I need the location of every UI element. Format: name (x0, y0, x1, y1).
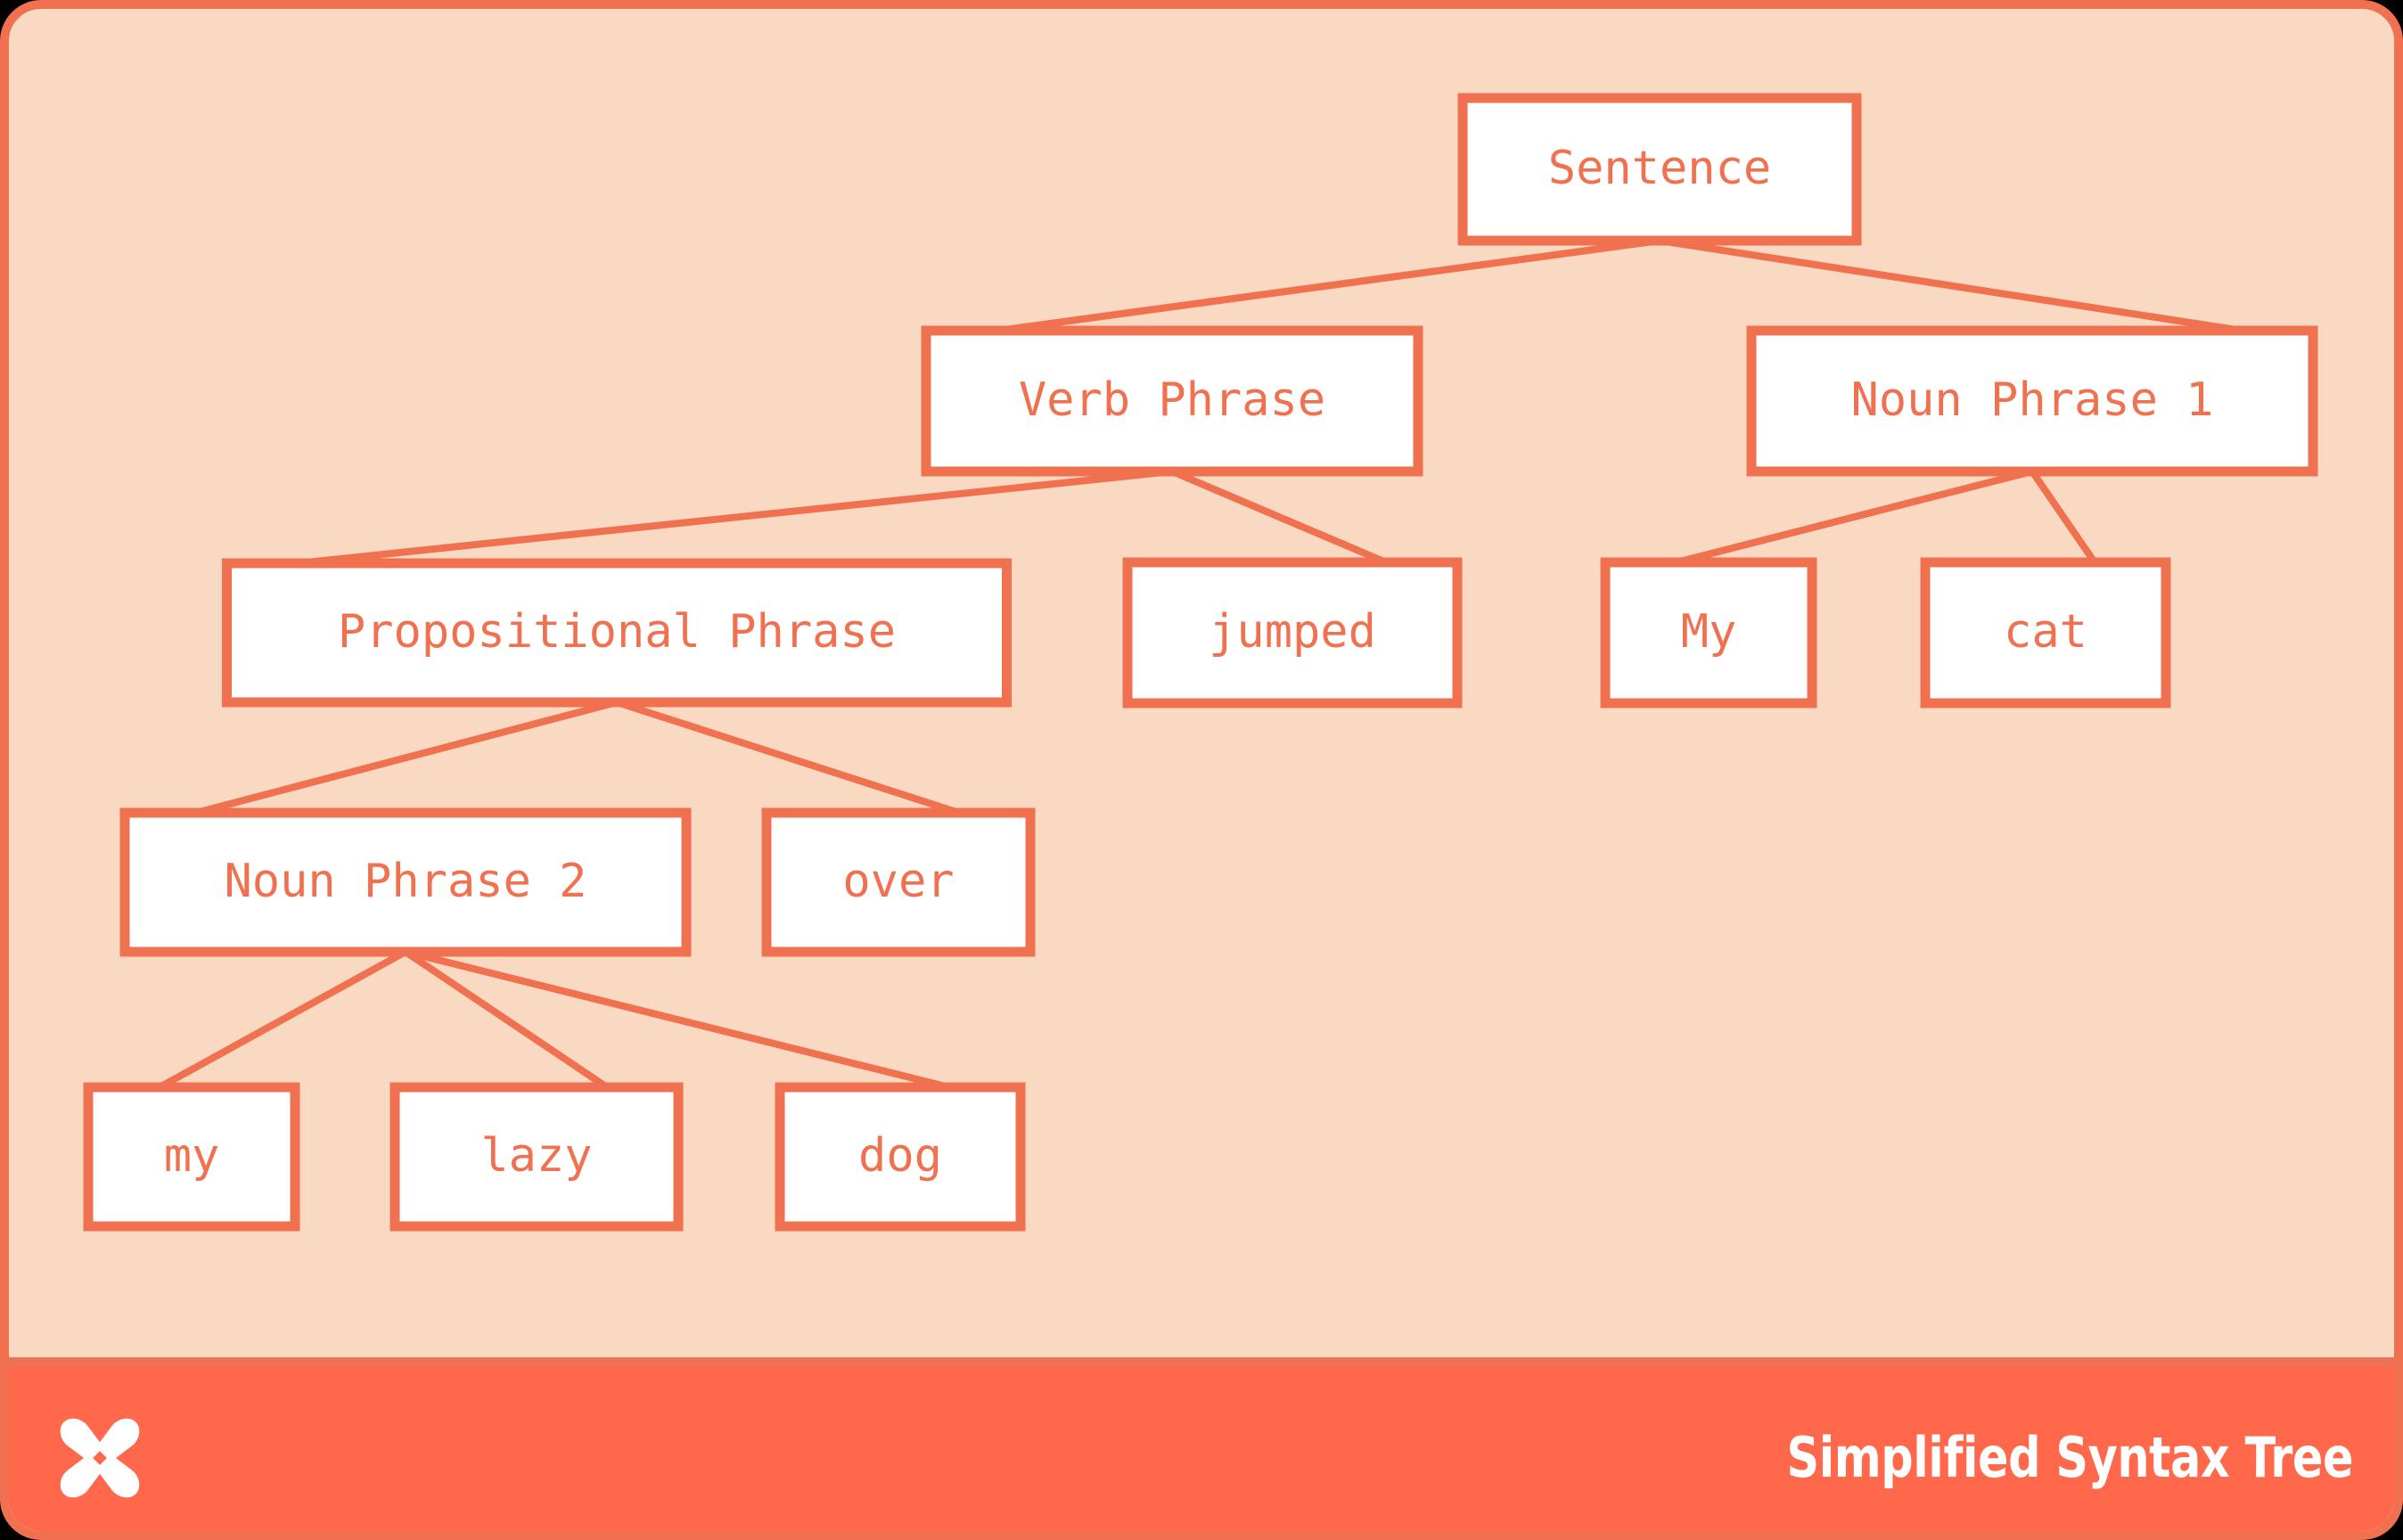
tree-edge-np1-to-my_cap (1677, 471, 2032, 562)
tree-node-np1[interactable]: Noun Phrase 1 (1751, 331, 2313, 471)
footer-bar: Simplified Syntax Tree (0, 1357, 2403, 1540)
tree-node-my_cap[interactable]: My (1605, 562, 1812, 703)
tree-edge-vp-to-pp (299, 471, 1173, 563)
tree-edge-sentence-to-vp (997, 241, 1660, 331)
node-label: lazy (480, 1129, 592, 1183)
butterfly-x-logo (50, 1408, 150, 1508)
tree-node-jumped[interactable]: jumped (1128, 562, 1457, 703)
node-label: dog (858, 1129, 942, 1183)
tree-node-cat[interactable]: cat (1925, 562, 2166, 703)
tree-node-lazy[interactable]: lazy (395, 1087, 678, 1226)
node-label: Sentence (1548, 142, 1771, 195)
diagram-card: SentenceVerb PhraseNoun Phrase 1Proposit… (0, 0, 2403, 1540)
tree-node-pp[interactable]: Propositional Phrase (227, 563, 1007, 702)
tree-nodes: SentenceVerb PhraseNoun Phrase 1Proposit… (88, 98, 2313, 1226)
node-label: Propositional Phrase (338, 605, 896, 659)
node-label: cat (2004, 605, 2087, 659)
footer-title: Simplified Syntax Tree (1786, 1425, 2353, 1490)
node-label: jumped (1209, 605, 1376, 659)
tree-edge-np1-to-cat (2032, 471, 2095, 562)
tree-edge-pp-to-over (617, 702, 959, 813)
tree-edge-np2-to-dog (406, 952, 949, 1087)
tree-edge-np2-to-my_low (160, 952, 406, 1087)
node-label: Noun Phrase 1 (1851, 373, 2214, 427)
tree-node-np2[interactable]: Noun Phrase 2 (125, 813, 686, 952)
tree-node-sentence[interactable]: Sentence (1463, 98, 1857, 241)
node-label: Noun Phrase 2 (225, 855, 587, 908)
diagram-canvas: SentenceVerb PhraseNoun Phrase 1Proposit… (9, 9, 2394, 1357)
tree-edge-np2-to-lazy (406, 952, 607, 1087)
tree-node-vp[interactable]: Verb Phrase (926, 331, 1418, 471)
tree-edge-pp-to-np2 (196, 702, 617, 813)
tree-node-dog[interactable]: dog (780, 1087, 1021, 1226)
syntax-tree-svg: SentenceVerb PhraseNoun Phrase 1Proposit… (0, 0, 2403, 1357)
node-label: My (1681, 605, 1737, 659)
node-label: my (164, 1129, 220, 1183)
tree-edge-sentence-to-np1 (1660, 241, 2242, 331)
node-label: over (842, 855, 954, 908)
tree-node-my_low[interactable]: my (88, 1087, 295, 1226)
tree-node-over[interactable]: over (767, 813, 1030, 952)
node-label: Verb Phrase (1019, 373, 1325, 427)
tree-edge-vp-to-jumped (1172, 471, 1386, 562)
